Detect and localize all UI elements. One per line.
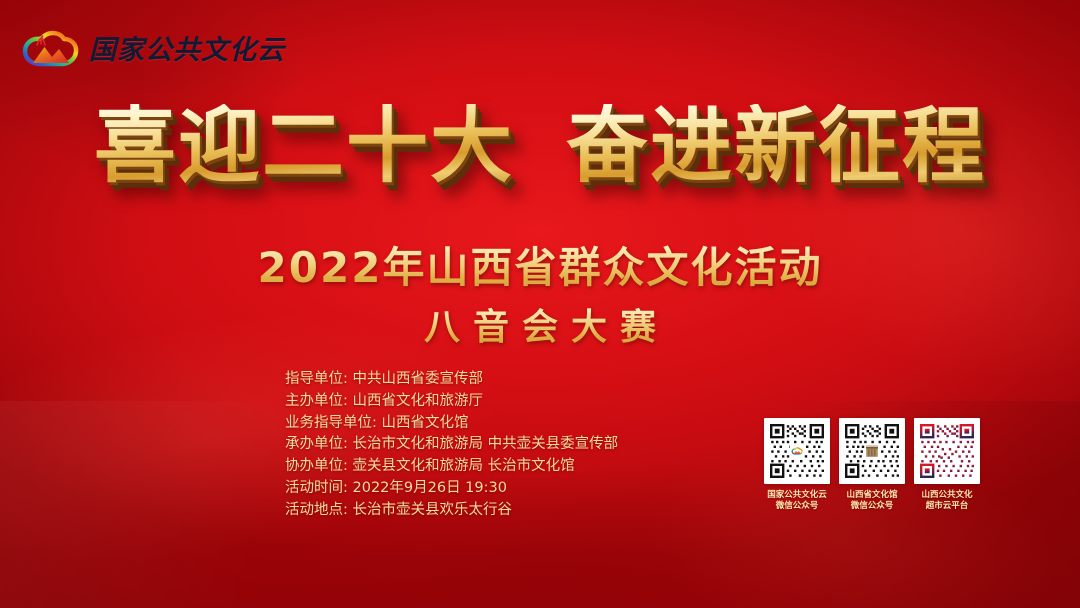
- brand-logo: 国家公共文化云: [22, 27, 285, 73]
- brand-wordmark: 国家公共文化云: [89, 37, 285, 64]
- credits-block: 指导单位: 中共山西省委宣传部 主办单位: 山西省文化和旅游厅 业务指导单位: …: [285, 369, 618, 522]
- qr-code-group: 国家公共文化云 微信公众号: [764, 418, 980, 512]
- qr-caption-line1: 山西省文化馆: [839, 490, 905, 501]
- credit-line-host: 主办单位: 山西省文化和旅游厅: [285, 391, 618, 413]
- qr-item-shanxi-cloud-platform[interactable]: 山西公共文化 超市云平台: [914, 418, 980, 512]
- credit-line-guidance: 指导单位: 中共山西省委宣传部: [285, 369, 618, 391]
- qr-center-building-photo: [866, 445, 878, 457]
- qr-caption-line1: 国家公共文化云: [764, 490, 830, 501]
- main-headline: 喜迎二十大奋进新征程: [0, 104, 1080, 191]
- qr-caption-shanxi-museum: 山西省文化馆 微信公众号: [839, 490, 905, 512]
- credit-line-advisor: 业务指导单位: 山西省文化馆: [285, 413, 618, 435]
- headline-part-1: 喜迎二十大: [94, 104, 514, 191]
- subtitle-competition-name: 八音会大赛: [0, 298, 1080, 350]
- subtitle-event-year: 2022年山西省群众文化活动: [0, 234, 1080, 295]
- credit-line-organizer: 承办单位: 长治市文化和旅游局 中共壶关县委宣传部: [285, 434, 618, 456]
- qr-item-national-cloud[interactable]: 国家公共文化云 微信公众号: [764, 418, 830, 512]
- credit-line-event-location: 活动地点: 长治市壶关县欢乐太行谷: [285, 500, 618, 522]
- headline-part-2: 奋进新征程: [566, 104, 986, 191]
- qr-code-icon-shanxi-cloud-platform[interactable]: [914, 418, 980, 484]
- qr-caption-national-cloud: 国家公共文化云 微信公众号: [764, 490, 830, 512]
- qr-code-icon-shanxi-museum[interactable]: [839, 418, 905, 484]
- poster-canvas: 国家公共文化云 喜迎二十大奋进新征程 2022年山西省群众文化活动 八音会大赛 …: [0, 0, 1080, 608]
- credit-line-event-time: 活动时间: 2022年9月26日 19:30: [285, 478, 618, 500]
- qr-caption-line2: 微信公众号: [839, 501, 905, 512]
- qr-caption-shanxi-cloud-platform: 山西公共文化 超市云平台: [914, 490, 980, 512]
- qr-caption-line2: 超市云平台: [914, 501, 980, 512]
- qr-item-shanxi-museum[interactable]: 山西省文化馆 微信公众号: [839, 418, 905, 512]
- qr-caption-line1: 山西公共文化: [914, 490, 980, 501]
- qr-code-icon-national-cloud[interactable]: [764, 418, 830, 484]
- qr-caption-line2: 微信公众号: [764, 501, 830, 512]
- rainbow-cloud-logo-icon: [22, 27, 80, 73]
- credit-line-coorganizer: 协办单位: 壶关县文化和旅游局 长治市文化馆: [285, 456, 618, 478]
